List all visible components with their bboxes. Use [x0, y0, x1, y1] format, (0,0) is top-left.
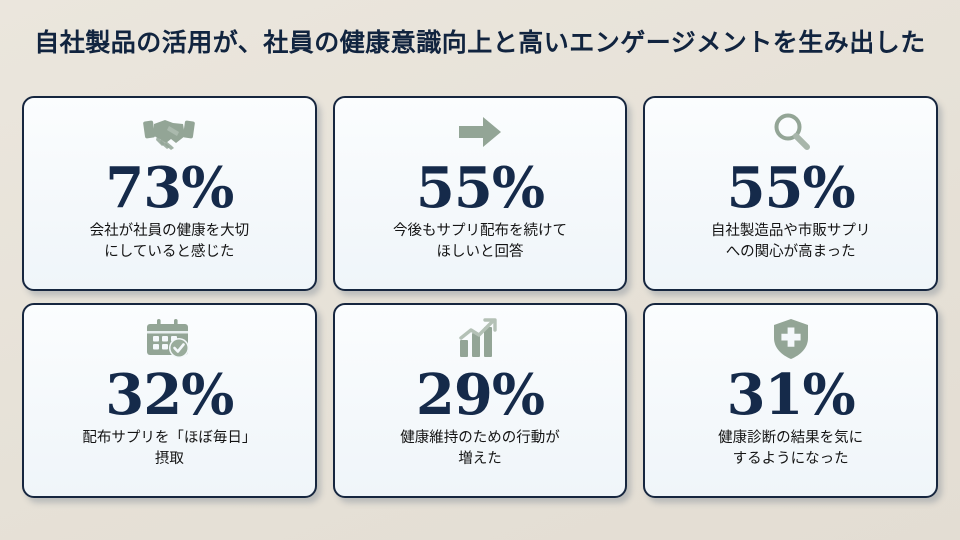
stat-card[interactable]: 73% 会社が社員の健康を大切 にしていると感じた [22, 96, 317, 291]
stat-value: 32% [105, 363, 233, 427]
page-title: 自社製品の活用が、社員の健康意識向上と高いエンゲージメントを生み出した [0, 26, 960, 60]
stat-value: 55% [727, 156, 855, 220]
stat-caption: 自社製造品や市販サプリ への関心が高まった [711, 221, 871, 263]
stat-card-grid: 73% 会社が社員の健康を大切 にしていると感じた 55% 今後もサプリ配布を続… [22, 96, 938, 498]
stat-caption: 今後もサプリ配布を続けて ほしいと回答 [393, 221, 567, 263]
stat-value: 31% [727, 363, 855, 427]
stat-caption: 会社が社員の健康を大切 にしていると感じた [90, 221, 250, 263]
calendar-check-icon [147, 317, 191, 361]
stat-value: 73% [105, 156, 233, 220]
stat-card[interactable]: 31% 健康診断の結果を気に するようになった [643, 303, 938, 498]
stat-caption: 健康診断の結果を気に するようになった [718, 428, 863, 470]
stat-card[interactable]: 55% 自社製造品や市販サプリ への関心が高まった [643, 96, 938, 291]
stat-caption: 健康維持のための行動が 増えた [400, 428, 560, 470]
stat-value: 55% [416, 156, 544, 220]
stat-card[interactable]: 55% 今後もサプリ配布を続けて ほしいと回答 [333, 96, 628, 291]
magnifier-icon [770, 110, 812, 154]
stat-card[interactable]: 29% 健康維持のための行動が 増えた [333, 303, 628, 498]
stat-value: 29% [416, 363, 544, 427]
slide-root: 自社製品の活用が、社員の健康意識向上と高いエンゲージメントを生み出した [0, 0, 960, 540]
shield-plus-icon [772, 317, 810, 361]
arrow-right-icon [457, 110, 503, 154]
handshake-icon [143, 110, 195, 154]
growth-chart-icon [458, 317, 502, 361]
stat-card[interactable]: 32% 配布サプリを「ほぼ毎日」 摂取 [22, 303, 317, 498]
stat-caption: 配布サプリを「ほぼ毎日」 摂取 [82, 428, 256, 470]
